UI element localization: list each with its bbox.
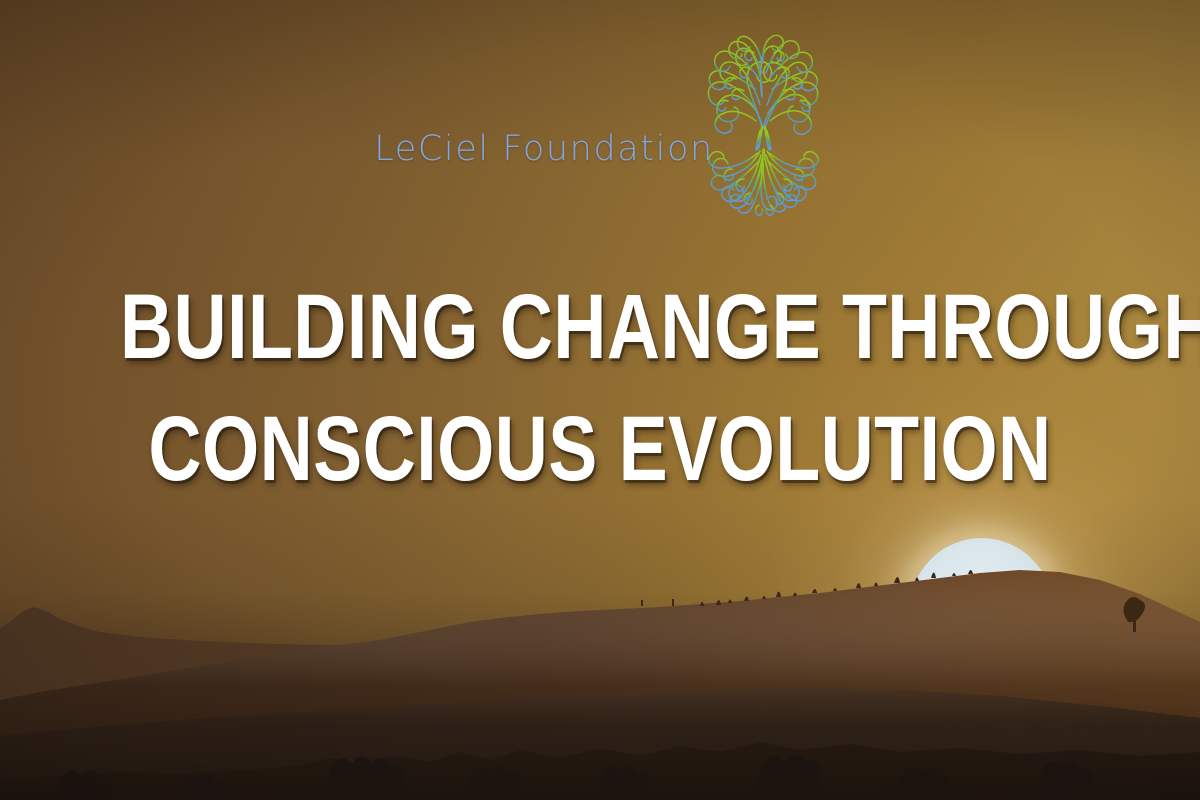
hero-banner: LeCiel Foundation — [0, 0, 1200, 800]
logo-wordmark: LeCiel Foundation — [374, 129, 714, 169]
brand-logo[interactable]: LeCiel Foundation — [0, 28, 1200, 218]
headline: Building Change Through Conscious Evolut… — [0, 268, 1200, 508]
headline-line-2: Conscious Evolution — [120, 390, 1080, 508]
headline-line-1: Building Change Through — [120, 268, 1080, 386]
tree-of-life-icon — [700, 29, 826, 217]
